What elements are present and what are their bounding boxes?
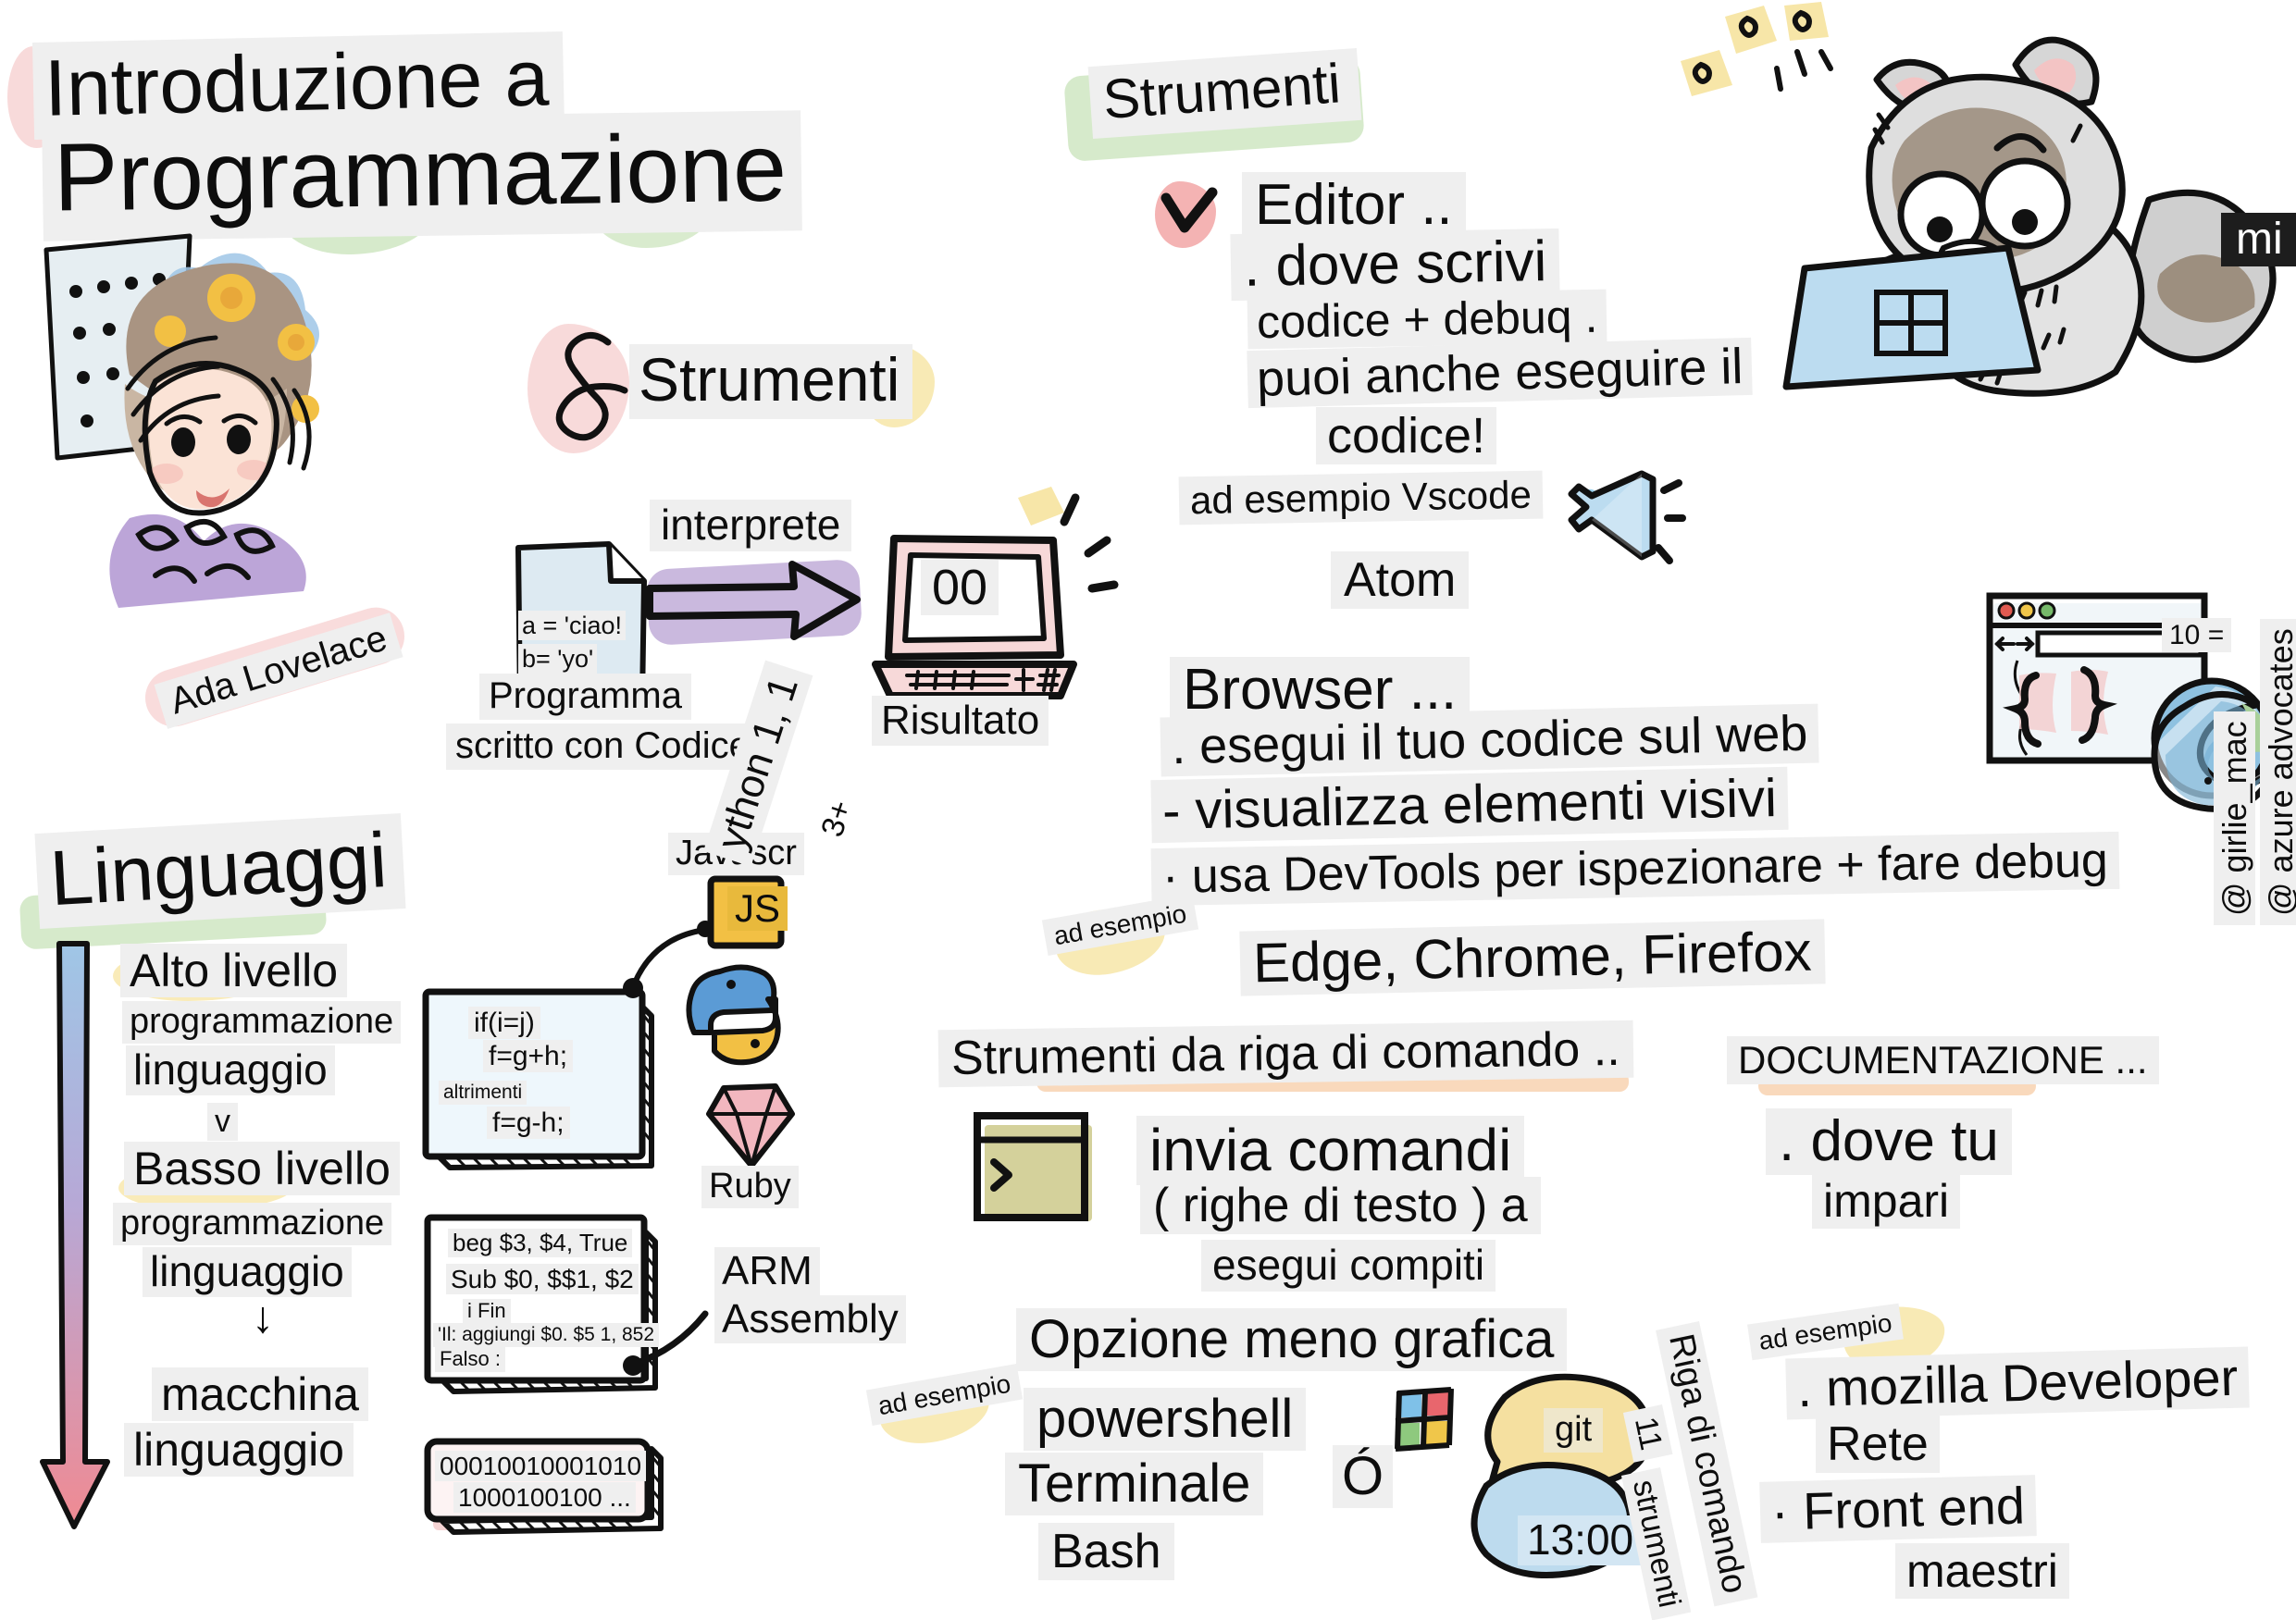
credit-azure-advocates: @ azure advocates xyxy=(2260,619,2296,925)
docs-item-4: maestri xyxy=(1895,1543,2069,1599)
docs-item-2: Rete xyxy=(1816,1416,1940,1473)
asm-code-line-3: i Fin xyxy=(463,1299,511,1324)
vscode-icon xyxy=(1564,463,1675,574)
cli-bash: Bash xyxy=(1038,1523,1174,1580)
ada-lovelace-illustration xyxy=(19,213,370,583)
check-icon xyxy=(1159,185,1223,246)
browser-url-value: 10 = xyxy=(2162,618,2231,652)
level-down-arrow-icon: ↓ xyxy=(252,1295,274,1342)
cli-line-1: invia comandi xyxy=(1136,1116,1524,1185)
editor-example-vscode: ad esempio Vscode xyxy=(1179,471,1544,526)
level-basso-livello: Basso livello xyxy=(124,1142,400,1195)
ampersand-icon xyxy=(541,326,634,437)
editor-line-4: codice! xyxy=(1316,407,1496,464)
git-bubble-label: git xyxy=(1544,1408,1603,1453)
strumenti-left-heading: Strumenti xyxy=(629,344,912,419)
editor-line-2: codice + debuq . xyxy=(1247,290,1607,350)
mascot-badge: mi xyxy=(2221,213,2296,266)
browser-line-2: - visualizza elementi visivi xyxy=(1150,767,1788,844)
program-code-line-1: a = 'ciao! xyxy=(518,611,626,640)
cli-terminal-mark: Ó xyxy=(1333,1445,1393,1508)
program-label-2: scritto con Codice xyxy=(446,723,759,770)
cli-powershell: powershell xyxy=(1024,1388,1306,1451)
cli-line-2: ( righe di testo ) a xyxy=(1140,1177,1541,1234)
level-linguaggio-3: linguaggio xyxy=(124,1423,354,1477)
level-programmazione-1: programmazione xyxy=(122,1001,401,1044)
level-alto-livello: Alto livello xyxy=(120,944,347,997)
sketchnote-canvas: Introduzione a Programmazione xyxy=(0,0,2296,1618)
level-macchina: macchina xyxy=(152,1367,368,1421)
linguaggi-heading: Linguaggi xyxy=(34,813,405,929)
level-linguaggio-2: linguaggio xyxy=(143,1247,352,1297)
ruby-label: Ruby xyxy=(701,1166,799,1208)
docs-title: DOCUMENTAZIONE ... xyxy=(1727,1036,2159,1084)
level-linguaggio-1: linguaggio xyxy=(126,1045,335,1095)
result-sparkle-icon xyxy=(999,481,1129,620)
editor-atom-label: Atom xyxy=(1331,551,1469,609)
arm-label-line1: ARM xyxy=(714,1247,820,1295)
credit-girlie-mac: @ girlie_mac xyxy=(2214,711,2255,925)
docs-line-1: . dove tu xyxy=(1766,1108,2012,1175)
arm-label-line2: Assembly xyxy=(714,1295,906,1343)
interprete-label: interprete xyxy=(650,500,851,551)
docs-item-3: · Front end xyxy=(1759,1475,2037,1543)
browser-line-1: . esegui il tuo codice sul web xyxy=(1160,704,1819,777)
time-bubble-label: 13:00 xyxy=(1518,1515,1643,1565)
editor-title: Editor .. xyxy=(1242,172,1466,239)
python-label-tail: 3+ xyxy=(816,797,859,841)
high-code-line-2: f=g+h; xyxy=(483,1040,573,1072)
asm-code-line-2: Sub $0, $$1, $2 xyxy=(446,1264,639,1294)
browser-examples: Edge, Chrome, Firefox xyxy=(1239,919,1825,996)
result-label: Risultato xyxy=(872,696,1049,746)
cli-terminal: Terminale xyxy=(1005,1453,1263,1515)
javascript-badge-label: JS xyxy=(727,886,788,931)
high-code-line-3: altrimenti xyxy=(439,1081,527,1105)
browser-line-3: · usa DevTools per ispezionare + fare de… xyxy=(1151,832,2120,906)
python-icon xyxy=(689,958,800,1070)
ruby-icon xyxy=(701,1081,803,1177)
asm-code-line-5: Falso : xyxy=(435,1347,505,1372)
cli-line-3: esegui compiti xyxy=(1201,1240,1496,1292)
cli-subtitle: Opzione meno grafica xyxy=(1016,1308,1567,1371)
terminal-icon xyxy=(968,1099,1116,1247)
binary-line-1: 00010010001010 xyxy=(435,1451,646,1481)
level-gradient-arrow-icon xyxy=(39,934,122,1545)
docs-line-2: impari xyxy=(1812,1173,1960,1229)
asm-code-line-1: beg $3, $4, True xyxy=(448,1229,632,1257)
binary-line-2: 1000100100 ... xyxy=(453,1482,636,1513)
high-code-line-4: f=g-h; xyxy=(487,1107,570,1139)
high-code-line-1: if(i=j) xyxy=(468,1007,540,1039)
program-code-line-2: b= 'yo' xyxy=(518,644,597,674)
cli-title: Strumenti da riga di comando .. xyxy=(938,1020,1633,1088)
docs-item-1: . mozilla Developer xyxy=(1785,1346,2250,1419)
interprete-arrow-icon xyxy=(639,555,870,648)
editor-line-3: puoi anche eseguire il xyxy=(1247,338,1753,408)
program-label-1: Programma xyxy=(479,674,691,720)
result-screen-value: 00 xyxy=(921,560,999,615)
level-programmazione-2: programmazione xyxy=(113,1203,391,1245)
level-v-separator: v xyxy=(207,1103,238,1141)
laptop-icon xyxy=(1777,222,2054,407)
